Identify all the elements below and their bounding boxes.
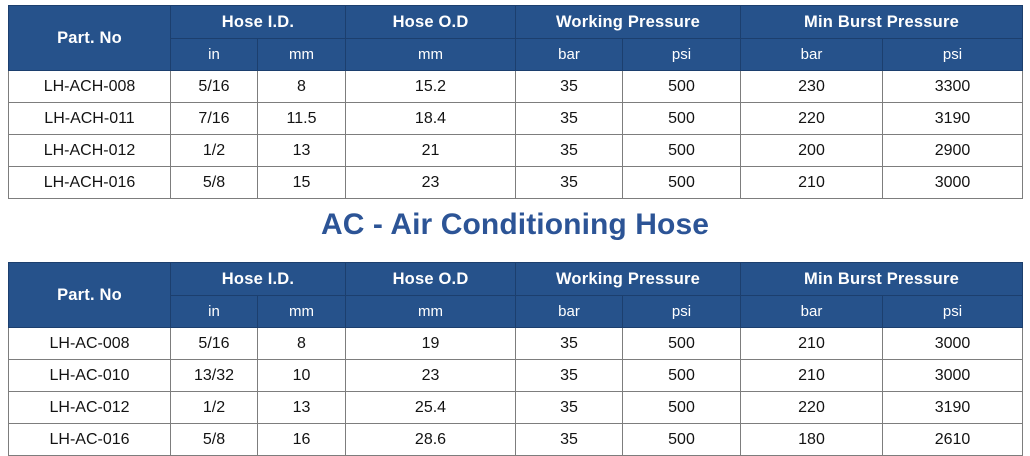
column-header-hose-od: Hose O.D	[346, 6, 516, 39]
cell-id-mm: 8	[258, 328, 346, 360]
unit-header-bp-psi: psi	[883, 296, 1023, 328]
cell-part-no: LH-AC-010	[9, 360, 171, 392]
cell-id-mm: 16	[258, 424, 346, 456]
cell-part-no: LH-ACH-008	[9, 71, 171, 103]
cell-id-mm: 13	[258, 135, 346, 167]
cell-part-no: LH-ACH-011	[9, 103, 171, 135]
column-header-hose-id: Hose I.D.	[171, 6, 346, 39]
cell-wp-bar: 35	[516, 392, 623, 424]
table-row: LH-ACH-0117/1611.518.4355002203190	[9, 103, 1023, 135]
cell-part-no: LH-AC-016	[9, 424, 171, 456]
cell-id-mm: 8	[258, 71, 346, 103]
cell-bp-bar: 210	[741, 167, 883, 199]
cell-id-in: 5/16	[171, 71, 258, 103]
cell-id-in: 5/8	[171, 424, 258, 456]
page-title: AC - Air Conditioning Hose	[0, 203, 1030, 247]
cell-wp-psi: 500	[623, 167, 741, 199]
cell-id-mm: 11.5	[258, 103, 346, 135]
cell-bp-psi: 2610	[883, 424, 1023, 456]
cell-id-in: 5/16	[171, 328, 258, 360]
cell-wp-psi: 500	[623, 424, 741, 456]
cell-od-mm: 28.6	[346, 424, 516, 456]
cell-bp-psi: 3190	[883, 392, 1023, 424]
unit-header-wp-psi: psi	[623, 39, 741, 71]
unit-header-bp-bar: bar	[741, 296, 883, 328]
cell-wp-psi: 500	[623, 392, 741, 424]
cell-od-mm: 15.2	[346, 71, 516, 103]
unit-header-od-mm: mm	[346, 296, 516, 328]
cell-wp-bar: 35	[516, 167, 623, 199]
cell-id-in: 13/32	[171, 360, 258, 392]
cell-bp-psi: 3000	[883, 167, 1023, 199]
cell-part-no: LH-AC-012	[9, 392, 171, 424]
unit-header-id-in: in	[171, 296, 258, 328]
hose-spec-table-one: Part. No Hose I.D. Hose O.D Working Pres…	[8, 5, 1023, 199]
cell-bp-bar: 230	[741, 71, 883, 103]
cell-od-mm: 19	[346, 328, 516, 360]
unit-header-id-mm: mm	[258, 39, 346, 71]
cell-id-mm: 15	[258, 167, 346, 199]
hose-specification-sheet: Part. No Hose I.D. Hose O.D Working Pres…	[0, 0, 1030, 456]
cell-bp-bar: 220	[741, 103, 883, 135]
cell-wp-bar: 35	[516, 103, 623, 135]
cell-bp-bar: 220	[741, 392, 883, 424]
cell-bp-psi: 3300	[883, 71, 1023, 103]
cell-bp-bar: 210	[741, 328, 883, 360]
cell-bp-bar: 210	[741, 360, 883, 392]
table-two-body: LH-AC-0085/16819355002103000LH-AC-01013/…	[9, 328, 1023, 456]
cell-id-in: 7/16	[171, 103, 258, 135]
cell-wp-psi: 500	[623, 328, 741, 360]
cell-bp-psi: 3190	[883, 103, 1023, 135]
table-two-header: Part. No Hose I.D. Hose O.D Working Pres…	[9, 263, 1023, 328]
cell-bp-psi: 3000	[883, 360, 1023, 392]
unit-header-id-in: in	[171, 39, 258, 71]
column-header-hose-id: Hose I.D.	[171, 263, 346, 296]
table-row: LH-AC-01013/321023355002103000	[9, 360, 1023, 392]
cell-bp-bar: 180	[741, 424, 883, 456]
unit-header-od-mm: mm	[346, 39, 516, 71]
cell-wp-bar: 35	[516, 71, 623, 103]
cell-id-in: 1/2	[171, 135, 258, 167]
column-header-part-no: Part. No	[9, 6, 171, 71]
cell-wp-bar: 35	[516, 360, 623, 392]
cell-od-mm: 25.4	[346, 392, 516, 424]
cell-wp-psi: 500	[623, 71, 741, 103]
table-row: LH-ACH-0165/81523355002103000	[9, 167, 1023, 199]
cell-id-in: 1/2	[171, 392, 258, 424]
cell-bp-psi: 2900	[883, 135, 1023, 167]
unit-header-id-mm: mm	[258, 296, 346, 328]
cell-id-in: 5/8	[171, 167, 258, 199]
cell-wp-psi: 500	[623, 135, 741, 167]
cell-part-no: LH-ACH-012	[9, 135, 171, 167]
column-header-part-no: Part. No	[9, 263, 171, 328]
column-header-working-pressure: Working Pressure	[516, 6, 741, 39]
cell-wp-bar: 35	[516, 424, 623, 456]
unit-header-wp-psi: psi	[623, 296, 741, 328]
table-row: LH-AC-0165/81628.6355001802610	[9, 424, 1023, 456]
column-header-working-pressure: Working Pressure	[516, 263, 741, 296]
table-one-header-row-main: Part. No Hose I.D. Hose O.D Working Pres…	[9, 6, 1023, 39]
cell-wp-psi: 500	[623, 103, 741, 135]
column-header-hose-od: Hose O.D	[346, 263, 516, 296]
column-header-min-burst-pressure: Min Burst Pressure	[741, 6, 1023, 39]
cell-wp-bar: 35	[516, 328, 623, 360]
cell-wp-bar: 35	[516, 135, 623, 167]
cell-part-no: LH-ACH-016	[9, 167, 171, 199]
unit-header-bp-psi: psi	[883, 39, 1023, 71]
unit-header-wp-bar: bar	[516, 39, 623, 71]
unit-header-wp-bar: bar	[516, 296, 623, 328]
unit-header-bp-bar: bar	[741, 39, 883, 71]
column-header-min-burst-pressure: Min Burst Pressure	[741, 263, 1023, 296]
cell-od-mm: 18.4	[346, 103, 516, 135]
table-two-header-row-main: Part. No Hose I.D. Hose O.D Working Pres…	[9, 263, 1023, 296]
cell-id-mm: 10	[258, 360, 346, 392]
hose-spec-table-two: Part. No Hose I.D. Hose O.D Working Pres…	[8, 262, 1023, 456]
cell-wp-psi: 500	[623, 360, 741, 392]
cell-id-mm: 13	[258, 392, 346, 424]
table-one-header: Part. No Hose I.D. Hose O.D Working Pres…	[9, 6, 1023, 71]
cell-od-mm: 23	[346, 167, 516, 199]
table-row: LH-AC-0085/16819355002103000	[9, 328, 1023, 360]
cell-part-no: LH-AC-008	[9, 328, 171, 360]
table-one-body: LH-ACH-0085/16815.2355002303300LH-ACH-01…	[9, 71, 1023, 199]
cell-bp-bar: 200	[741, 135, 883, 167]
cell-od-mm: 21	[346, 135, 516, 167]
cell-bp-psi: 3000	[883, 328, 1023, 360]
table-row: LH-AC-0121/21325.4355002203190	[9, 392, 1023, 424]
cell-od-mm: 23	[346, 360, 516, 392]
table-row: LH-ACH-0121/21321355002002900	[9, 135, 1023, 167]
table-row: LH-ACH-0085/16815.2355002303300	[9, 71, 1023, 103]
